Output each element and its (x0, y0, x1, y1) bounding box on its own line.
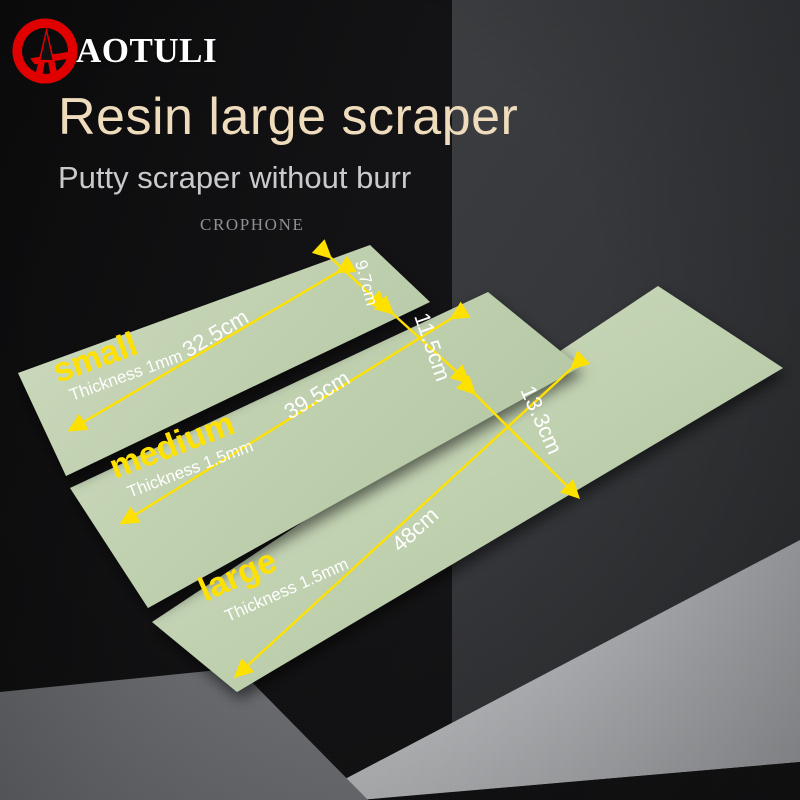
brand-lockup: AOTULI (8, 14, 217, 88)
product-banner: AOTULI Resin large scraper Putty scraper… (0, 0, 800, 800)
aotuli-circle-a-logo-icon (8, 14, 82, 88)
page-title: Resin large scraper (58, 87, 518, 147)
page-subtitle: Putty scraper without burr (58, 160, 411, 196)
brand-name: AOTULI (76, 31, 217, 71)
watermark-text: CROPHONE (200, 215, 304, 235)
